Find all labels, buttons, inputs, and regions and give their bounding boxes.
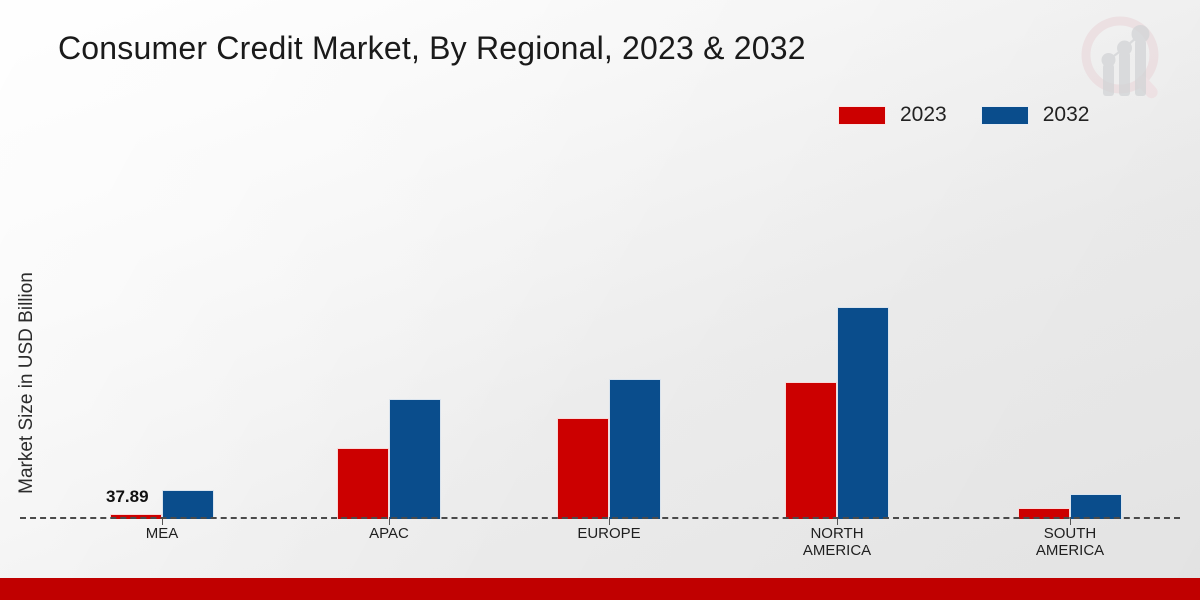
- bars-europe: [557, 0, 661, 519]
- category-label-mea: MEA: [62, 525, 262, 542]
- category-label-apac: APAC: [289, 525, 489, 542]
- category-label-north-america-line1: NORTH: [737, 525, 937, 542]
- bar-europe-2032[interactable]: [609, 379, 661, 519]
- bar-north-america-2032[interactable]: [837, 307, 889, 519]
- bar-apac-2023[interactable]: [337, 448, 389, 519]
- bar-south-america-2032[interactable]: [1070, 494, 1122, 519]
- bars-south-america: [1018, 0, 1122, 519]
- footer-accent-bar: [0, 578, 1200, 600]
- bar-mea-2032[interactable]: [162, 490, 214, 519]
- category-label-south-america-line1: SOUTH: [970, 525, 1170, 542]
- category-label-south-america-line2: AMERICA: [970, 542, 1170, 559]
- category-label-south-america: SOUTH AMERICA: [970, 525, 1170, 559]
- category-label-north-america-line2: AMERICA: [737, 542, 937, 559]
- category-label-europe: EUROPE: [509, 525, 709, 542]
- bar-apac-2032[interactable]: [389, 399, 441, 519]
- category-label-apac-line1: APAC: [289, 525, 489, 542]
- bar-north-america-2023[interactable]: [785, 382, 837, 519]
- chart-canvas: Consumer Credit Market, By Regional, 202…: [0, 0, 1200, 600]
- bars-apac: [337, 0, 441, 519]
- plot-area: 37.89 MEA APAC EUROPE: [0, 0, 1200, 519]
- bars-mea: [110, 0, 214, 519]
- bar-europe-2023[interactable]: [557, 418, 609, 519]
- data-label-mea-2023: 37.89: [106, 487, 149, 507]
- category-label-europe-line1: EUROPE: [509, 525, 709, 542]
- category-label-mea-line1: MEA: [62, 525, 262, 542]
- x-axis-baseline: [20, 517, 1180, 519]
- bars-north-america: [785, 0, 889, 519]
- category-label-north-america: NORTH AMERICA: [737, 525, 937, 559]
